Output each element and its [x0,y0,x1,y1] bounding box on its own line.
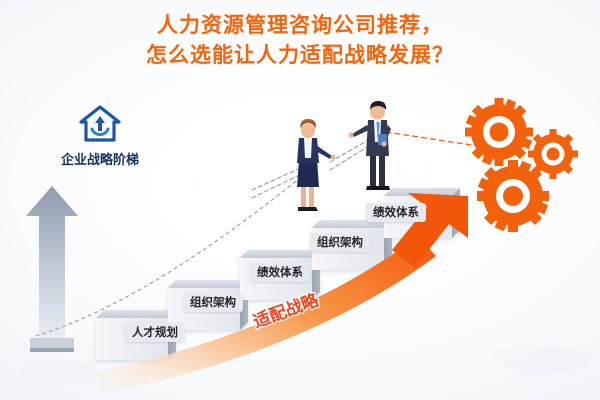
step-tag-3: 绩效体系 [250,263,310,282]
home-up-arrow-icon [78,104,122,144]
growth-arrow-icon [26,186,78,352]
infographic-canvas: 人力资源管理咨询公司推荐， 怎么选能让人力适配战略发展？ 企业战略阶梯 人才规划… [0,0,600,400]
businessman-figure [348,101,391,190]
step-tag-2: 组织架构 [183,293,243,312]
step-tag-1: 人才规划 [125,323,185,342]
step-tag-4: 组织架构 [310,233,370,252]
businesswoman-figure [297,119,335,211]
gears-icon [465,98,578,232]
strategy-ladder-label: 企业战略阶梯 [40,149,160,168]
artwork-layer [0,0,600,400]
step-tag-5: 绩效体系 [366,203,426,222]
strategy-ladder-block: 企业战略阶梯 [40,104,160,168]
